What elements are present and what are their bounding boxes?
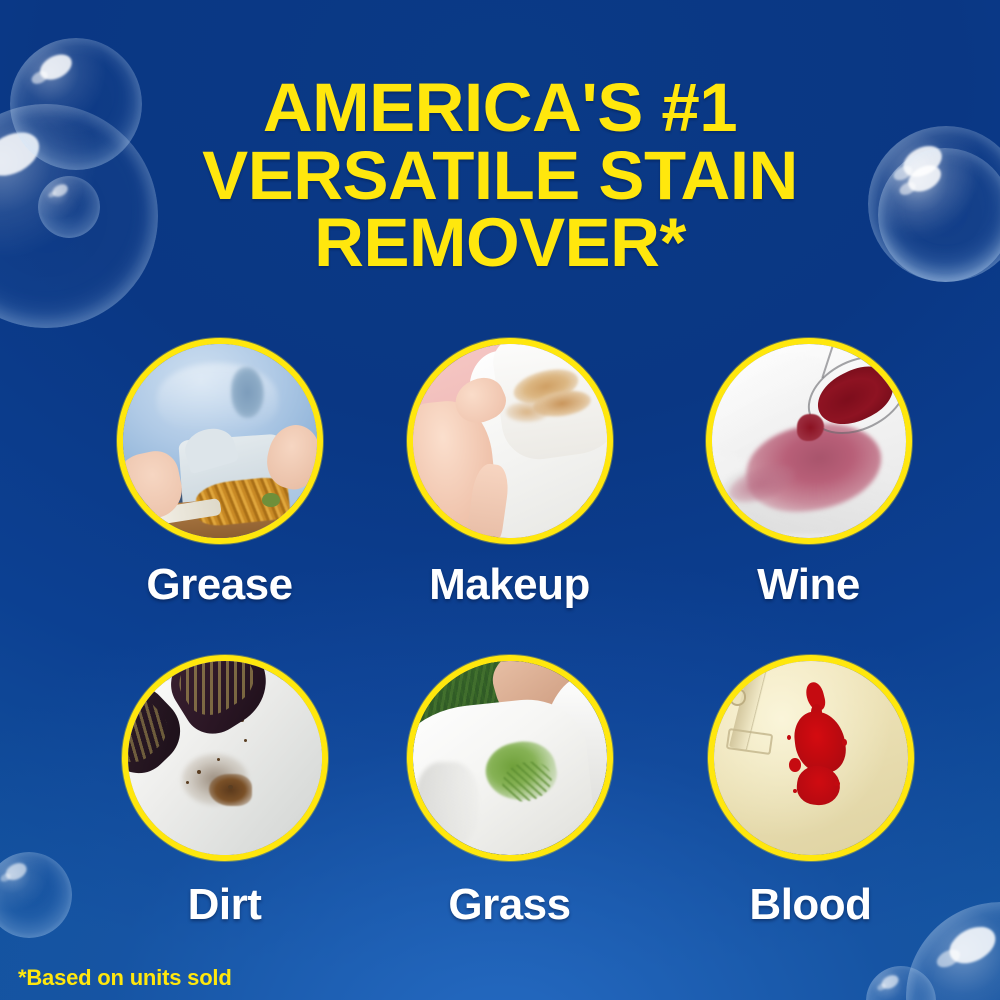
wine-stain-photo — [712, 344, 906, 538]
makeup-circle-frame — [407, 338, 613, 544]
blood-circle-frame — [708, 655, 914, 861]
row-spacer — [70, 607, 950, 655]
stain-item-grass[interactable]: Grass — [363, 655, 656, 927]
stain-item-grease[interactable]: Grease — [70, 338, 363, 607]
stain-item-makeup[interactable]: Makeup — [363, 338, 656, 607]
blood-stain-photo — [714, 661, 908, 855]
stain-label-wine: Wine — [757, 563, 860, 607]
dirt-circle-frame — [122, 655, 328, 861]
wine-circle-frame — [706, 338, 912, 544]
stain-remover-banner: AMERICA'S #1 VERSATILE STAIN REMOVER* — [0, 0, 1000, 1000]
bubble-bottom-left-icon — [0, 852, 72, 938]
makeup-stain-photo — [413, 344, 607, 538]
stain-label-grass: Grass — [448, 883, 570, 927]
stain-label-grease: Grease — [146, 563, 292, 607]
dirt-stain-photo — [128, 661, 322, 855]
stain-item-dirt[interactable]: Dirt — [70, 655, 363, 927]
stain-row-2: Dirt Grass — [70, 655, 950, 927]
bubble-bottom-right-small-icon — [866, 966, 936, 1000]
stain-row-1: Grease Makeup — [70, 338, 950, 607]
grass-stain-photo — [413, 661, 607, 855]
stain-label-dirt: Dirt — [188, 883, 262, 927]
grease-stain-photo — [123, 344, 317, 538]
stain-item-wine[interactable]: Wine — [656, 338, 949, 607]
grease-circle-frame — [117, 338, 323, 544]
footnote-disclaimer: *Based on units sold — [18, 965, 232, 991]
stain-item-blood[interactable]: Blood — [656, 655, 949, 927]
grass-circle-frame — [407, 655, 613, 861]
headline: AMERICA'S #1 VERSATILE STAIN REMOVER* — [0, 74, 1000, 277]
stain-label-blood: Blood — [749, 883, 871, 927]
stain-type-grid: Grease Makeup — [70, 338, 950, 927]
stain-label-makeup: Makeup — [429, 563, 590, 607]
